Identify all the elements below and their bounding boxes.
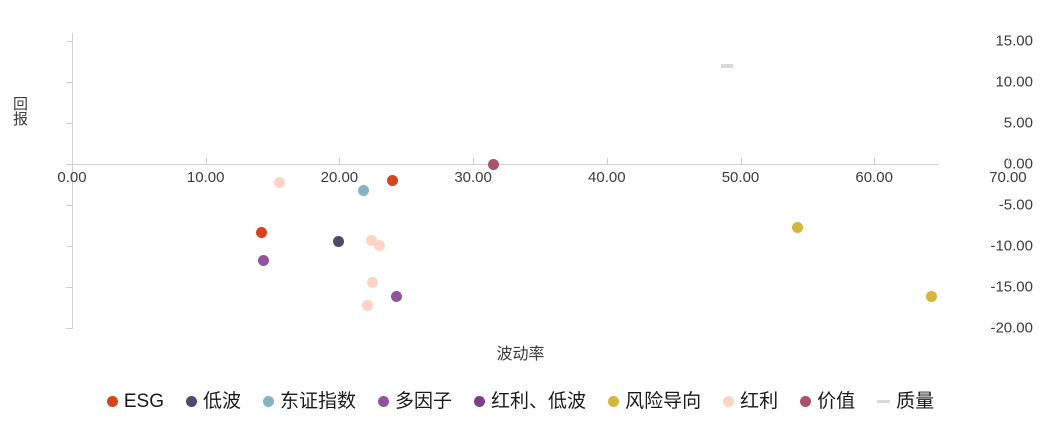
x-tick-label: 20.00 bbox=[294, 170, 384, 185]
y-tick-label: 15.00 bbox=[975, 34, 1041, 49]
legend-item[interactable]: 低波 bbox=[186, 392, 241, 411]
legend-item[interactable]: 红利、低波 bbox=[474, 392, 586, 411]
x-tick-label: 10.00 bbox=[161, 170, 251, 185]
y-tick-mark bbox=[66, 328, 72, 329]
x-tick-label: 30.00 bbox=[428, 170, 518, 185]
y-tick-label: -15.00 bbox=[975, 280, 1041, 295]
data-point[interactable] bbox=[391, 291, 402, 302]
y-axis-title: 回报 bbox=[12, 96, 27, 126]
x-axis-title: 波动率 bbox=[0, 340, 1041, 364]
legend-marker-icon bbox=[378, 396, 389, 407]
y-tick-mark bbox=[66, 123, 72, 124]
legend-marker-icon bbox=[474, 396, 485, 407]
data-point[interactable] bbox=[274, 177, 285, 188]
legend-item-label: 红利、低波 bbox=[491, 392, 586, 411]
data-point[interactable] bbox=[367, 277, 378, 288]
legend-item-label: 红利 bbox=[740, 392, 778, 411]
y-tick-mark bbox=[66, 41, 72, 42]
legend-item-label: 低波 bbox=[203, 392, 241, 411]
legend-marker-icon bbox=[107, 396, 118, 407]
legend-item[interactable]: 质量 bbox=[877, 392, 934, 411]
legend-marker-icon bbox=[877, 400, 890, 403]
legend-marker-icon bbox=[723, 396, 734, 407]
legend-item-label: 风险导向 bbox=[625, 392, 701, 411]
x-tick-mark bbox=[339, 158, 340, 164]
x-tick-mark bbox=[1008, 158, 1009, 164]
x-tick-label: 50.00 bbox=[696, 170, 786, 185]
legend-item-label: 价值 bbox=[817, 392, 855, 411]
legend-marker-icon bbox=[186, 396, 197, 407]
x-tick-mark bbox=[874, 158, 875, 164]
x-tick-label: 60.00 bbox=[829, 170, 919, 185]
data-point[interactable] bbox=[721, 64, 733, 68]
x-tick-mark bbox=[741, 158, 742, 164]
y-tick-label: -20.00 bbox=[975, 321, 1041, 336]
x-tick-label: 40.00 bbox=[562, 170, 652, 185]
legend-marker-icon bbox=[800, 396, 811, 407]
y-tick-label: -10.00 bbox=[975, 239, 1041, 254]
data-point[interactable] bbox=[792, 222, 803, 233]
data-point[interactable] bbox=[488, 159, 499, 170]
legend-item[interactable]: 风险导向 bbox=[608, 392, 701, 411]
y-tick-mark bbox=[66, 205, 72, 206]
y-tick-label: -5.00 bbox=[975, 198, 1041, 213]
x-tick-mark bbox=[72, 158, 73, 164]
x-tick-mark bbox=[473, 158, 474, 164]
x-axis-line bbox=[72, 164, 938, 165]
legend-item[interactable]: 东证指数 bbox=[263, 392, 356, 411]
x-tick-mark bbox=[206, 158, 207, 164]
y-tick-label: 10.00 bbox=[975, 75, 1041, 90]
y-tick-label: 5.00 bbox=[975, 116, 1041, 131]
legend-item-label: ESG bbox=[124, 392, 164, 411]
data-point[interactable] bbox=[926, 291, 937, 302]
data-point[interactable] bbox=[333, 236, 344, 247]
legend-item-label: 质量 bbox=[896, 392, 934, 411]
x-tick-mark bbox=[607, 158, 608, 164]
y-tick-mark bbox=[66, 82, 72, 83]
x-tick-label: 70.00 bbox=[963, 170, 1041, 185]
y-tick-mark bbox=[66, 246, 72, 247]
y-tick-mark bbox=[66, 164, 72, 165]
data-point[interactable] bbox=[362, 300, 373, 311]
legend-item[interactable]: 价值 bbox=[800, 392, 855, 411]
legend-item[interactable]: ESG bbox=[107, 392, 164, 411]
legend-item-label: 东证指数 bbox=[280, 392, 356, 411]
chart-legend: ESG低波东证指数多因子红利、低波风险导向红利价值质量 bbox=[0, 392, 1041, 411]
legend-marker-icon bbox=[608, 396, 619, 407]
scatter-chart: 15.0010.005.000.00-5.00-10.00-15.00-20.0… bbox=[0, 0, 1041, 429]
legend-item[interactable]: 多因子 bbox=[378, 392, 452, 411]
data-point[interactable] bbox=[387, 175, 398, 186]
data-point[interactable] bbox=[256, 227, 267, 238]
data-point[interactable] bbox=[258, 255, 269, 266]
x-tick-label: 0.00 bbox=[27, 170, 117, 185]
y-tick-mark bbox=[66, 287, 72, 288]
legend-item-label: 多因子 bbox=[395, 392, 452, 411]
data-point[interactable] bbox=[358, 185, 369, 196]
legend-item[interactable]: 红利 bbox=[723, 392, 778, 411]
data-point[interactable] bbox=[374, 240, 385, 251]
legend-marker-icon bbox=[263, 396, 274, 407]
